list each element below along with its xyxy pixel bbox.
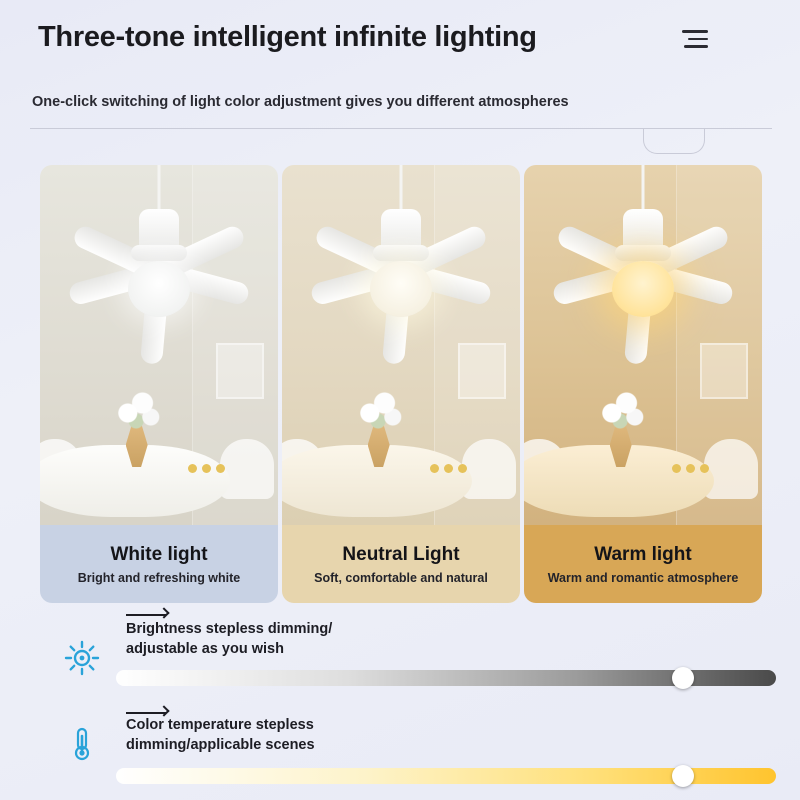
card-title: Neutral Light: [342, 544, 459, 566]
card-title: White light: [110, 544, 207, 566]
card-title: Warm light: [594, 544, 691, 566]
card-description: Soft, comfortable and natural: [314, 571, 488, 585]
room-scene: [282, 165, 520, 525]
card-photo-neutral: [282, 165, 520, 525]
card-description: Bright and refreshing white: [78, 571, 241, 585]
card-description: Warm and romantic atmosphere: [548, 571, 739, 585]
light-mode-cards: White light Bright and refreshing white: [40, 165, 762, 603]
light-mode-card-neutral[interactable]: Neutral Light Soft, comfortable and natu…: [282, 165, 520, 603]
header: Three-tone intelligent infinite lighting: [38, 22, 770, 54]
color-temperature-label-line1: Color temperature stepless: [126, 716, 315, 736]
fruit-1: [188, 464, 197, 473]
brightness-sun-icon: [62, 638, 102, 678]
page-subtitle: One-click switching of light color adjus…: [32, 94, 569, 110]
wall-art: [458, 343, 506, 399]
thermometer-icon: [62, 724, 102, 764]
fan-rod: [400, 165, 403, 213]
color-temperature-label-line2: dimming/applicable scenes: [126, 736, 315, 756]
brightness-label: Brightness stepless dimming/ adjustable …: [126, 620, 332, 659]
room-scene: [524, 165, 762, 525]
card-photo-white: [40, 165, 278, 525]
brightness-slider-knob[interactable]: [672, 667, 694, 689]
card-photo-warm: [524, 165, 762, 525]
fruit-2: [202, 464, 211, 473]
fan-rod: [642, 165, 645, 213]
pointer-arrow-icon: [126, 608, 172, 620]
brightness-label-line2: adjustable as you wish: [126, 640, 332, 660]
flowers: [114, 389, 160, 429]
arrow-head: [158, 607, 169, 618]
fan-motor: [623, 209, 663, 255]
wall-art: [700, 343, 748, 399]
color-temperature-label: Color temperature stepless dimming/appli…: [126, 716, 315, 755]
wind-line-2: [688, 38, 708, 41]
lamp-globe: [612, 261, 674, 317]
chair-right: [220, 439, 274, 499]
fan-rod: [158, 165, 161, 213]
color-temperature-slider-knob[interactable]: [672, 765, 694, 787]
chair-right: [462, 439, 516, 499]
fan-motor: [381, 209, 421, 255]
arrow-head: [158, 705, 169, 716]
fruit-2: [686, 464, 695, 473]
wall-art: [216, 343, 264, 399]
fan-motor: [139, 209, 179, 255]
brightness-label-line1: Brightness stepless dimming/: [126, 620, 332, 640]
flowers: [598, 389, 644, 429]
fruit-1: [672, 464, 681, 473]
header-notch: [643, 128, 705, 154]
card-caption-neutral: Neutral Light Soft, comfortable and natu…: [282, 525, 520, 603]
wind-line-1: [682, 30, 708, 33]
card-caption-white: White light Bright and refreshing white: [40, 525, 278, 603]
light-mode-card-warm[interactable]: Warm light Warm and romantic atmosphere: [524, 165, 762, 603]
fruit-2: [444, 464, 453, 473]
card-caption-warm: Warm light Warm and romantic atmosphere: [524, 525, 762, 603]
wind-line-3: [684, 45, 708, 48]
lamp-globe: [128, 261, 190, 317]
wind-lines-icon[interactable]: [680, 30, 708, 50]
light-mode-card-white[interactable]: White light Bright and refreshing white: [40, 165, 278, 603]
flowers: [356, 389, 402, 429]
chair-right: [704, 439, 758, 499]
room-scene: [40, 165, 278, 525]
fruit-1: [430, 464, 439, 473]
page-title: Three-tone intelligent infinite lighting: [38, 22, 770, 54]
promo-page: Three-tone intelligent infinite lighting…: [0, 0, 800, 800]
lamp-globe: [370, 261, 432, 317]
